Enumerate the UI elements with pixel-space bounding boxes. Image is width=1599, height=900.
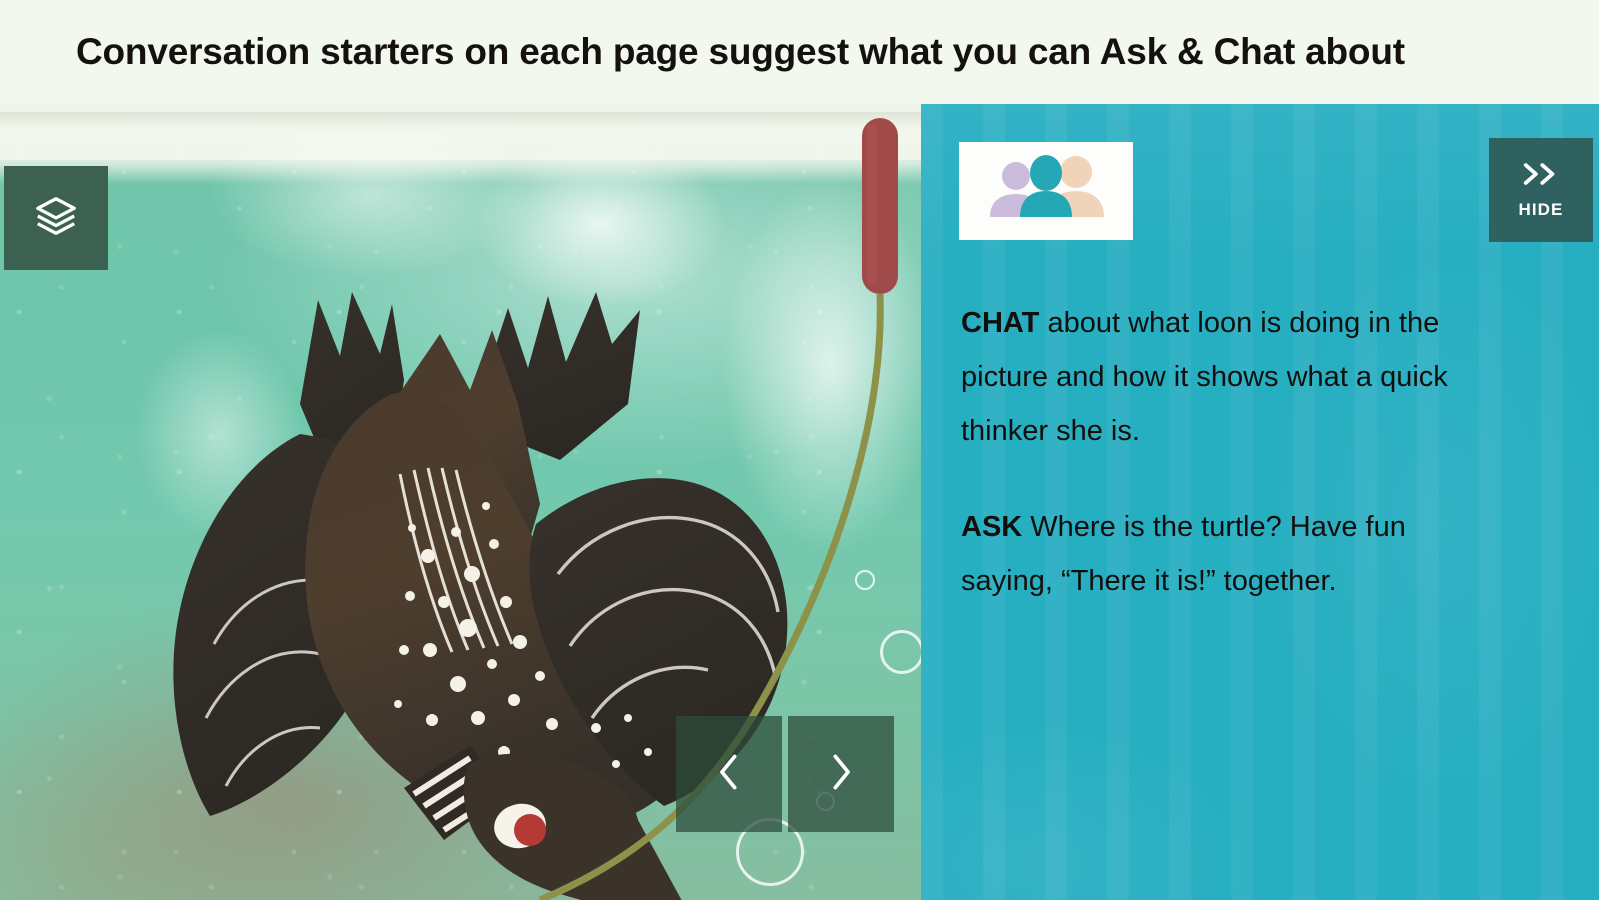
- conversation-starter-panel: HIDE CHAT about what loon is doing in th…: [921, 104, 1599, 900]
- chevron-right-icon: [824, 749, 858, 800]
- next-page-button[interactable]: [788, 716, 894, 832]
- app-root: Conversation starters on each page sugge…: [0, 0, 1599, 900]
- double-chevron-right-icon: [1519, 160, 1563, 193]
- chat-lead-label: CHAT: [961, 307, 1039, 339]
- page-title: Conversation starters on each page sugge…: [76, 31, 1405, 73]
- page-navigation: [676, 716, 894, 832]
- ask-prompt-text: Where is the turtle? Have fun saying, “T…: [961, 511, 1406, 597]
- panel-text-body: CHAT about what loon is doing in the pic…: [961, 296, 1461, 650]
- prev-page-button[interactable]: [676, 716, 782, 832]
- ask-lead-label: ASK: [961, 511, 1022, 543]
- hide-button-label: HIDE: [1518, 200, 1563, 220]
- layers-button[interactable]: [4, 166, 108, 270]
- chat-prompt: CHAT about what loon is doing in the pic…: [961, 296, 1461, 458]
- ask-prompt: ASK Where is the turtle? Have fun saying…: [961, 500, 1461, 608]
- layers-icon: [33, 193, 79, 244]
- three-people-icon: [980, 153, 1112, 230]
- header-banner: Conversation starters on each page sugge…: [0, 0, 1599, 104]
- chevron-left-icon: [712, 749, 746, 800]
- hide-panel-button[interactable]: HIDE: [1489, 138, 1593, 242]
- three-people-icon-card: [959, 142, 1133, 240]
